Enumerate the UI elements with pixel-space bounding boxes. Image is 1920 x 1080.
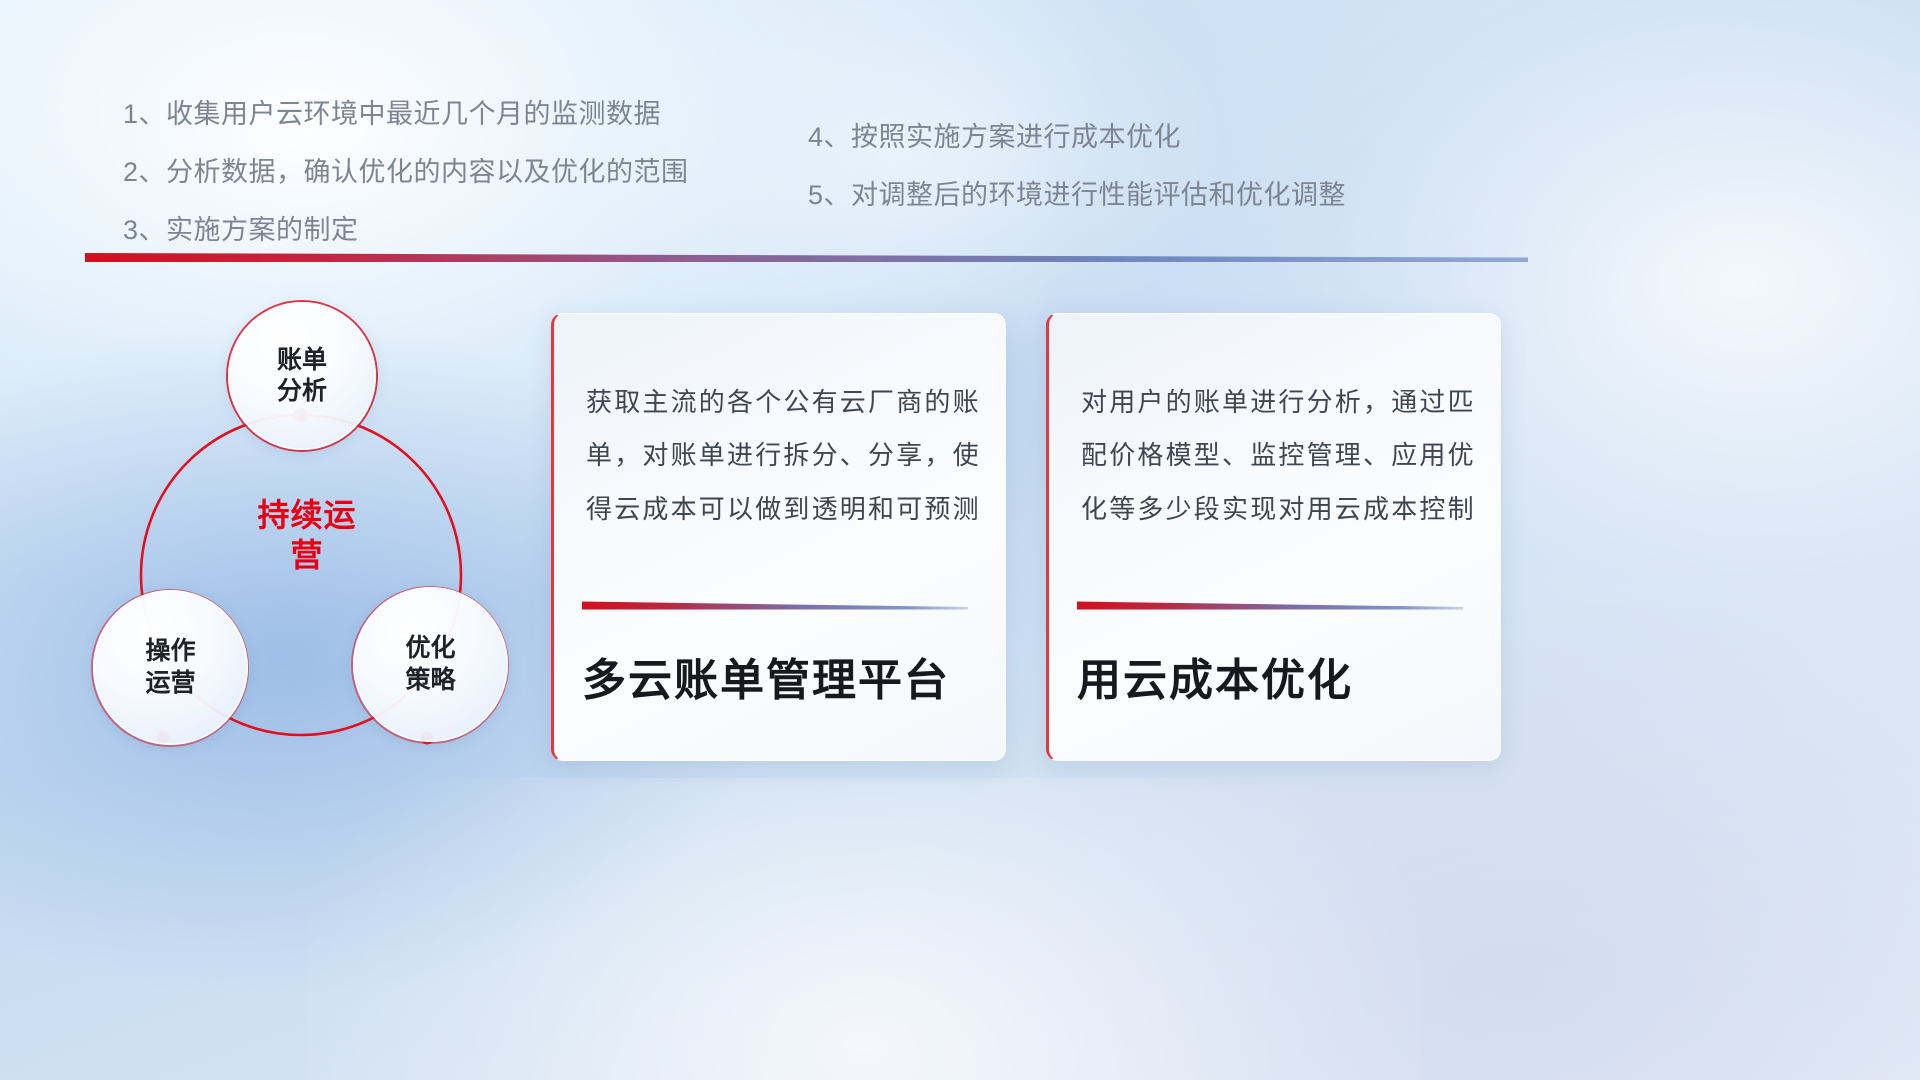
card-title: 用云成本优化 <box>1077 644 1480 708</box>
node-label: 账单分析 <box>277 345 327 408</box>
card-divider <box>1077 601 1463 612</box>
card-multi-cloud-billing-platform[interactable]: 获取主流的各个公有云厂商的账单，对账单进行拆分、分享，使得云成本可以做到透明和可… <box>551 313 1006 761</box>
background-glow-bottom <box>307 778 1421 1080</box>
card-divider <box>582 601 968 612</box>
step-item: 1、收集用户云环境中最近几个月的监测数据 <box>123 101 689 128</box>
section-divider <box>85 252 1528 265</box>
card-cloud-cost-optimization[interactable]: 对用户的账单进行分析，通过匹配价格模型、监控管理、应用优化等多少段实现对用云成本… <box>1046 313 1501 761</box>
step-item: 3、实施方案的制定 <box>123 217 689 244</box>
diagram-center-label: 持续运营 <box>247 495 367 575</box>
card-title: 多云账单管理平台 <box>582 644 985 708</box>
diagram-node-operations[interactable]: 操作运营 <box>93 590 248 745</box>
steps-list-right: 4、按照实施方案进行成本优化 5、对调整后的环境进行性能评估和优化调整 <box>808 124 1346 240</box>
diagram-node-billing-analysis[interactable]: 账单分析 <box>228 302 376 450</box>
step-item: 4、按照实施方案进行成本优化 <box>808 124 1346 151</box>
node-label: 优化策略 <box>405 633 455 696</box>
card-body-text: 获取主流的各个公有云厂商的账单，对账单进行拆分、分享，使得云成本可以做到透明和可… <box>586 376 979 536</box>
step-item: 2、分析数据，确认优化的内容以及优化的范围 <box>123 159 689 186</box>
node-label: 操作运营 <box>145 636 195 699</box>
continuous-operations-diagram: 账单分析 操作运营 优化策略 持续运营 <box>75 285 545 780</box>
step-item: 5、对调整后的环境进行性能评估和优化调整 <box>808 182 1346 209</box>
steps-list-left: 1、收集用户云环境中最近几个月的监测数据 2、分析数据，确认优化的内容以及优化的… <box>123 101 689 275</box>
diagram-node-optimization-strategy[interactable]: 优化策略 <box>353 587 508 742</box>
card-body-text: 对用户的账单进行分析，通过匹配价格模型、监控管理、应用优化等多少段实现对用云成本… <box>1081 376 1474 536</box>
